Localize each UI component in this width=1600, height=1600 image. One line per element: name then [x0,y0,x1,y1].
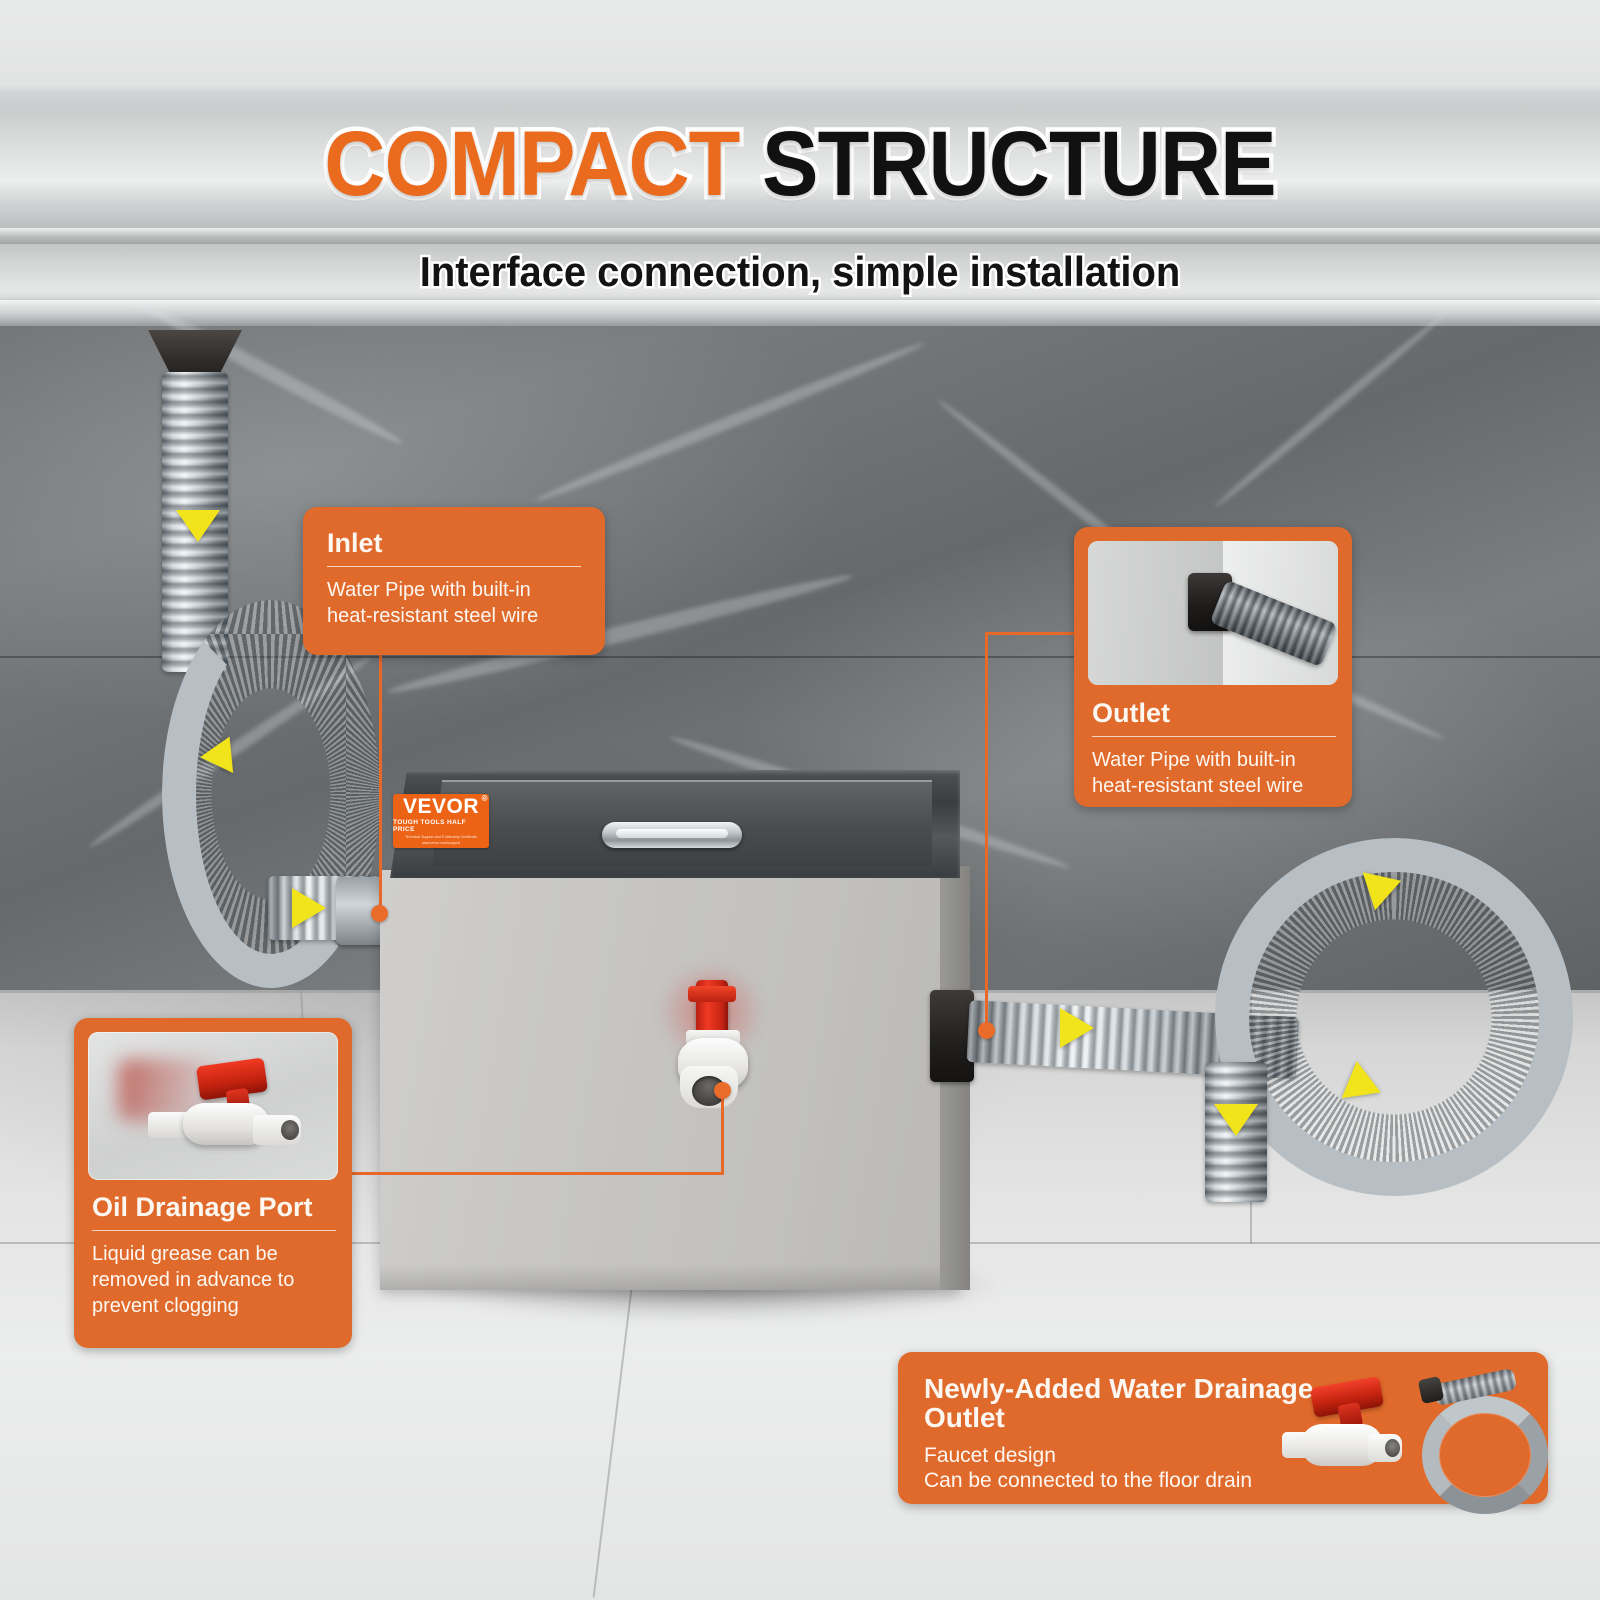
banner-title: Newly-Added Water Drainage Outlet [924,1374,1324,1433]
leader-line-oil-horizontal [352,1172,724,1175]
callout-oil-drainage-port[interactable]: Oil Drainage Port Liquid grease can be r… [74,1018,352,1348]
leader-dot-oil [714,1082,731,1099]
title-compact: COMPACT [324,113,739,215]
vevor-fine-print: Technical Support and E-Warranty Certifi… [393,835,489,846]
banner-water-drainage-outlet[interactable]: Newly-Added Water Drainage Outlet Faucet… [898,1352,1548,1504]
leader-line-oil-vertical [721,1090,724,1174]
banner-product-art [1280,1364,1532,1492]
callout-outlet-divider [1092,736,1336,737]
banner-ball-valve-icon [1282,1382,1398,1476]
registered-mark: ® [482,795,488,803]
vevor-name: VEVOR [403,795,479,818]
callout-inlet-description: Water Pipe with built-in heat-resistant … [327,578,581,629]
leader-line-outlet-horizontal [985,632,1077,635]
callout-outlet-description: Water Pipe with built-in heat-resistant … [1088,748,1338,799]
leader-line-outlet-vertical [985,632,988,1030]
page-subtitle: Interface connection, simple installatio… [40,248,1560,296]
title-structure: STRUCTURE [762,113,1276,215]
callout-inlet-divider [327,566,581,567]
grease-trap-box: VEVOR® TOUGH TOOLS HALF PRICE Technical … [380,770,970,1290]
callout-inlet-title: Inlet [327,529,581,557]
callout-oil-photo [88,1032,338,1180]
vevor-wordmark: VEVOR® [403,796,479,817]
vevor-tagline: TOUGH TOOLS HALF PRICE [393,819,489,833]
oil-drain-valve [670,980,756,1110]
callout-outlet-title: Outlet [1088,699,1338,727]
page-title: COMPACT STRUCTURE [64,118,1536,210]
banner-drain-hose-icon [1412,1370,1528,1482]
leader-dot-inlet [371,905,388,922]
lid-handle-highlight [616,829,728,838]
leader-line-inlet [379,648,382,913]
leader-dot-outlet [978,1022,995,1039]
callout-oil-description: Liquid grease can be removed in advance … [88,1242,338,1319]
callout-oil-divider [92,1230,336,1231]
callout-oil-title: Oil Drainage Port [88,1193,338,1221]
vevor-logo-sticker: VEVOR® TOUGH TOOLS HALF PRICE Technical … [393,794,489,848]
callout-outlet[interactable]: Outlet Water Pipe with built-in heat-res… [1074,527,1352,807]
valve-outlet-pipe [253,1115,301,1145]
callout-inlet[interactable]: Inlet Water Pipe with built-in heat-resi… [303,507,605,655]
callout-outlet-photo [1088,541,1338,685]
product-marketing-image: VEVOR® TOUGH TOOLS HALF PRICE Technical … [0,0,1600,1600]
